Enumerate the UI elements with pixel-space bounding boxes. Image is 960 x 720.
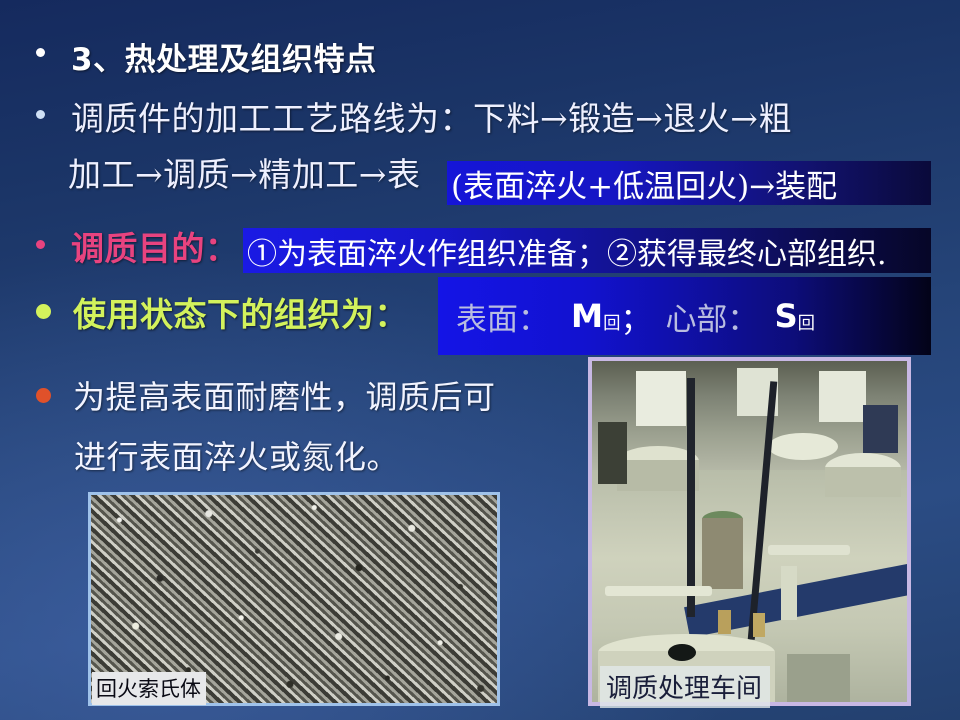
floor-shadow bbox=[787, 654, 850, 702]
heat-treatment-workshop-photo bbox=[588, 357, 911, 706]
window-pane bbox=[636, 371, 686, 426]
overlay-structure-callout: 表面： M 回 ； 心部： S 回 bbox=[438, 277, 931, 355]
window-pane bbox=[819, 371, 866, 422]
overlay-purpose-callout: ①为表面淬火作组织准备；②获得最终心部组织. bbox=[243, 228, 931, 273]
furnace-body bbox=[825, 467, 901, 498]
process-route-line-1: 调质件的加工工艺路线为：下料→锻造→退火→粗 bbox=[71, 92, 792, 140]
micrograph-caption: 回火索氏体 bbox=[92, 672, 206, 705]
pipe bbox=[781, 566, 797, 621]
bullet-marker-icon bbox=[36, 48, 45, 57]
slide-canvas: 3、热处理及组织特点 调质件的加工工艺路线为：下料→锻造→退火→粗 加工→调质→… bbox=[0, 0, 960, 720]
overlay-route-text: (表面淬火+低温回火)→装配 bbox=[451, 161, 837, 205]
fitting bbox=[753, 613, 766, 637]
furnace-lid bbox=[768, 433, 837, 460]
equipment-silhouette bbox=[598, 422, 626, 483]
core-label: 心部： bbox=[665, 294, 758, 339]
bullet-surface-wear: 为提高表面耐磨性，调质后可 bbox=[36, 372, 496, 418]
surface-subscript: 回 bbox=[603, 309, 620, 334]
bullet-marker-icon bbox=[36, 240, 45, 249]
bullet-marker-icon bbox=[36, 304, 51, 319]
bullet-marker-icon bbox=[36, 388, 51, 403]
surface-wear-line-1: 为提高表面耐磨性，调质后可 bbox=[73, 372, 496, 418]
overlay-route-callout: (表面淬火+低温回火)→装配 bbox=[447, 161, 931, 205]
purpose-label: 调质目的： bbox=[71, 222, 239, 270]
surface-wear-line-2: 进行表面淬火或氮化。 bbox=[74, 432, 399, 478]
process-route-line-2: 加工→调质→精加工→表 bbox=[68, 148, 420, 196]
service-structure-label: 使用状态下的组织为： bbox=[73, 288, 408, 336]
core-symbol: S bbox=[774, 297, 797, 335]
fitting bbox=[718, 610, 731, 634]
pipe bbox=[605, 586, 712, 596]
bullet-process-route: 调质件的加工工艺路线为：下料→锻造→退火→粗 bbox=[36, 92, 792, 140]
structure-separator: ； bbox=[620, 294, 651, 339]
crane-mast bbox=[687, 378, 695, 617]
pipe bbox=[768, 545, 850, 555]
bullet-heading: 3、热处理及组织特点 bbox=[36, 30, 377, 79]
equipment-silhouette bbox=[863, 405, 898, 453]
bullet-marker-icon bbox=[36, 110, 45, 119]
core-subscript: 回 bbox=[798, 309, 815, 334]
tank-port bbox=[668, 644, 696, 661]
surface-label: 表面： bbox=[456, 294, 549, 339]
bullet-service-structure: 使用状态下的组织为： bbox=[36, 288, 408, 336]
surface-symbol: M bbox=[571, 297, 603, 335]
overlay-purpose-text: ①为表面淬火作组织准备；②获得最终心部组织. bbox=[247, 229, 887, 273]
bullet-purpose: 调质目的： bbox=[36, 222, 239, 270]
vessel-body bbox=[702, 518, 743, 590]
workshop-caption: 调质处理车间 bbox=[600, 666, 770, 708]
heading-text: 3、热处理及组织特点 bbox=[71, 34, 377, 79]
